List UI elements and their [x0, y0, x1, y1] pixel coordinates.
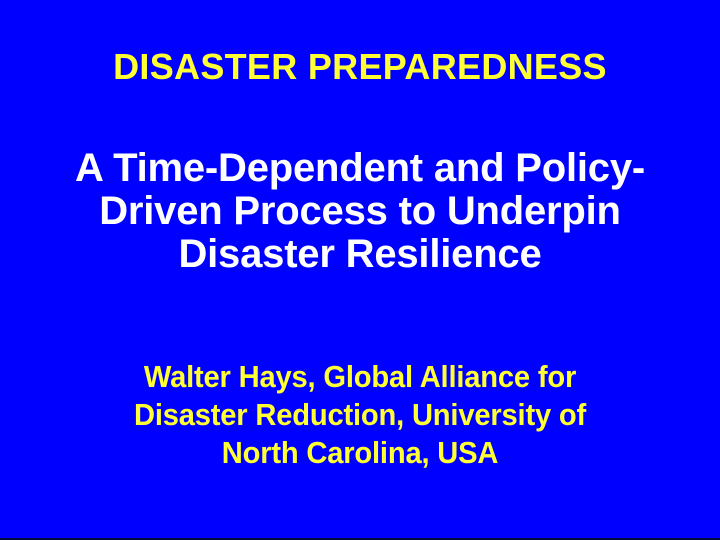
- presentation-slide: DISASTER PREPAREDNESS A Time-Dependent a…: [0, 0, 720, 540]
- slide-author-line-1: Walter Hays, Global Alliance for: [22, 358, 699, 396]
- slide-subtitle-line-2: Driven Process to Underpin: [0, 190, 720, 233]
- slide-author-affiliation: Walter Hays, Global Alliance for Disaste…: [0, 358, 720, 472]
- slide-subtitle: A Time-Dependent and Policy- Driven Proc…: [0, 147, 720, 276]
- slide-subtitle-line-3: Disaster Resilience: [0, 233, 720, 276]
- slide-subtitle-line-1: A Time-Dependent and Policy-: [0, 147, 720, 190]
- slide-title: DISASTER PREPAREDNESS: [0, 47, 720, 87]
- slide-author-line-2: Disaster Reduction, University of: [22, 396, 699, 434]
- slide-title-text: DISASTER PREPAREDNESS: [113, 47, 607, 87]
- slide-author-line-3: North Carolina, USA: [22, 434, 699, 472]
